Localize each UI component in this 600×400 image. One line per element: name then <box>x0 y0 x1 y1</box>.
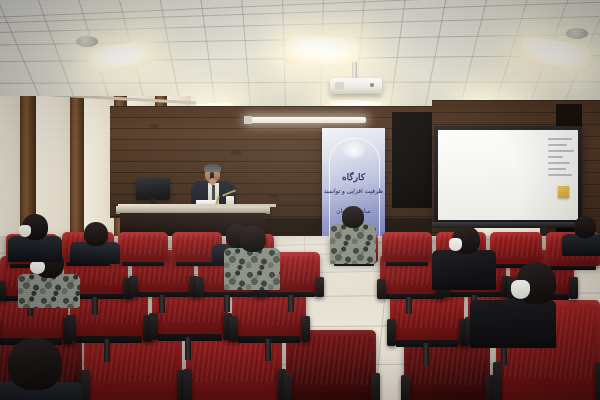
seat-armrest <box>81 370 90 400</box>
seat-leg <box>406 297 412 314</box>
seat-leg <box>224 295 230 312</box>
seat-r4-i[interactable] <box>490 232 542 264</box>
attendee-left-masked-torso <box>18 274 80 308</box>
seat-leg <box>104 339 110 362</box>
seat-armrest <box>0 281 6 301</box>
attendee-front-left-head <box>8 338 62 390</box>
seat-leg <box>159 295 165 313</box>
seat-r4-c[interactable] <box>118 232 168 262</box>
seat-leg <box>423 343 429 366</box>
seat-leg <box>265 339 271 361</box>
attendee-camo-front-head <box>342 206 364 228</box>
attendee-left-second-head <box>84 222 108 246</box>
attendee-right-front-torso <box>470 300 556 348</box>
seat-armrest <box>401 375 410 400</box>
attendee-left-back-face-mask <box>19 225 31 236</box>
seat-leg <box>92 297 98 315</box>
seat-armrest <box>387 319 396 346</box>
seat-armrest <box>129 276 138 297</box>
seat-armrest <box>493 362 502 400</box>
seat-armrest <box>569 277 578 299</box>
seat-armrest <box>229 316 238 342</box>
seat-armrest <box>595 362 600 400</box>
seat-base <box>386 262 428 266</box>
seat-armrest <box>283 373 292 400</box>
seat-armrest <box>195 277 204 297</box>
seat-leg <box>185 337 191 360</box>
seat-base <box>550 266 595 270</box>
seat-armrest <box>371 373 380 400</box>
attendee-right-mid-face-mask <box>449 238 462 250</box>
attendee-far-right-back-head <box>574 216 596 238</box>
seat-armrest <box>377 279 386 299</box>
seat-r4-g[interactable] <box>382 232 432 262</box>
seating-area <box>0 0 600 400</box>
seat-armrest <box>301 316 310 342</box>
seat-armrest <box>149 313 158 340</box>
attendee-camo-front-torso <box>330 224 376 264</box>
seminar-hall-photo: کارگاه ظرفیت افزایی و توانمند سازی کارکن… <box>0 0 600 400</box>
seat-armrest <box>315 277 324 297</box>
attendee-camo-center-torso <box>224 248 280 290</box>
seat-armrest <box>67 315 76 342</box>
attendee-right-mid-torso <box>432 250 496 290</box>
attendee-camo-center-head <box>240 226 266 252</box>
seat-leg <box>288 295 294 312</box>
seat-armrest <box>183 369 192 400</box>
seat-base <box>122 262 164 266</box>
